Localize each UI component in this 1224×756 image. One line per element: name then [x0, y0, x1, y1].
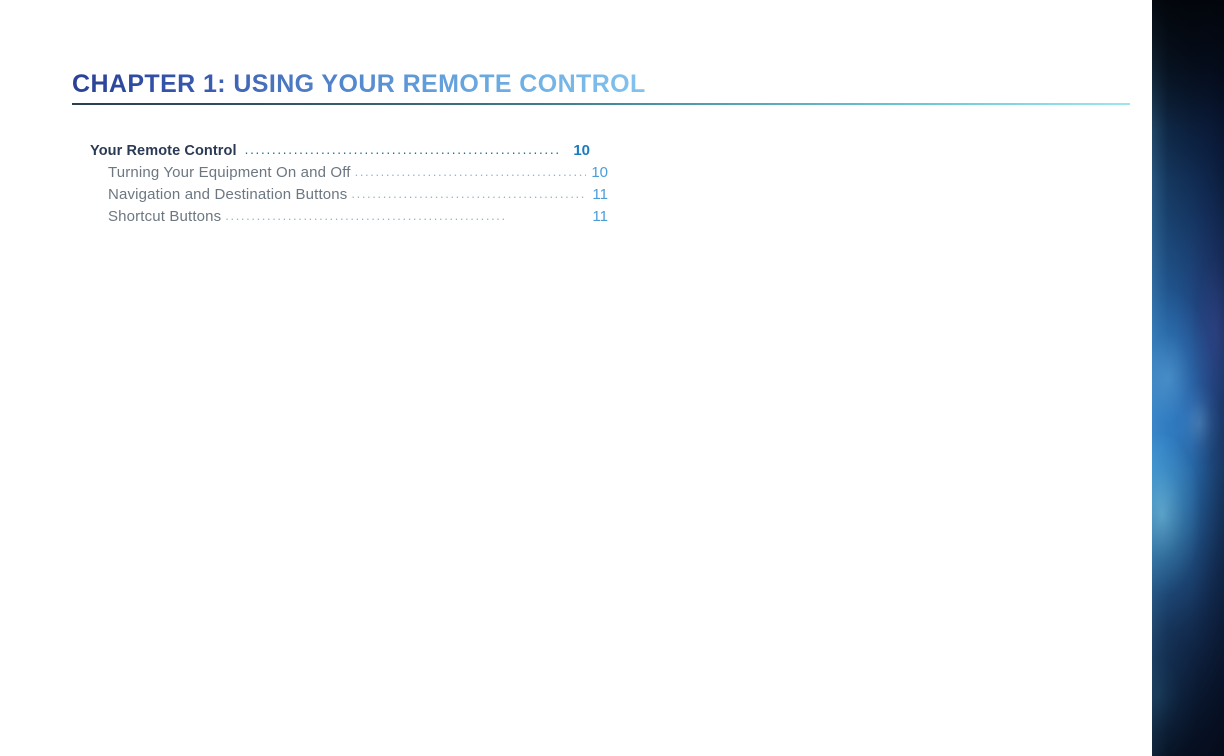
decorative-edge-band	[1152, 0, 1224, 756]
table-of-contents: Your Remote Control ....................…	[90, 142, 590, 230]
toc-leader-dots: ........................................…	[355, 164, 586, 179]
toc-entry[interactable]: Turning Your Equipment On and Off ......…	[90, 164, 608, 186]
toc-entry[interactable]: Shortcut Buttons .......................…	[90, 208, 608, 230]
toc-leader-dots: ........................................…	[351, 186, 586, 201]
toc-entry-label: Turning Your Equipment On and Off	[108, 164, 351, 181]
toc-page-number: 11	[587, 208, 608, 225]
title-divider-rule	[72, 103, 1130, 105]
toc-page-number: 10	[563, 142, 590, 159]
toc-entry-label: Your Remote Control	[90, 143, 237, 159]
toc-entry-label: Navigation and Destination Buttons	[108, 186, 347, 203]
toc-page-number: 11	[587, 186, 608, 203]
edge-band-bottom-shadow	[1152, 0, 1224, 756]
toc-page-number: 10	[587, 164, 608, 181]
toc-entry[interactable]: Your Remote Control ....................…	[90, 142, 590, 164]
page-title: CHAPTER 1: USING YOUR REMOTE CONTROL	[72, 68, 646, 100]
toc-leader-dots: ........................................…	[225, 208, 586, 223]
toc-entry[interactable]: Navigation and Destination Buttons .....…	[90, 186, 608, 208]
toc-leader-dots: ........................................…	[245, 142, 562, 157]
document-page: CHAPTER 1: USING YOUR REMOTE CONTROL You…	[0, 0, 1224, 756]
toc-entry-label: Shortcut Buttons	[108, 208, 221, 225]
